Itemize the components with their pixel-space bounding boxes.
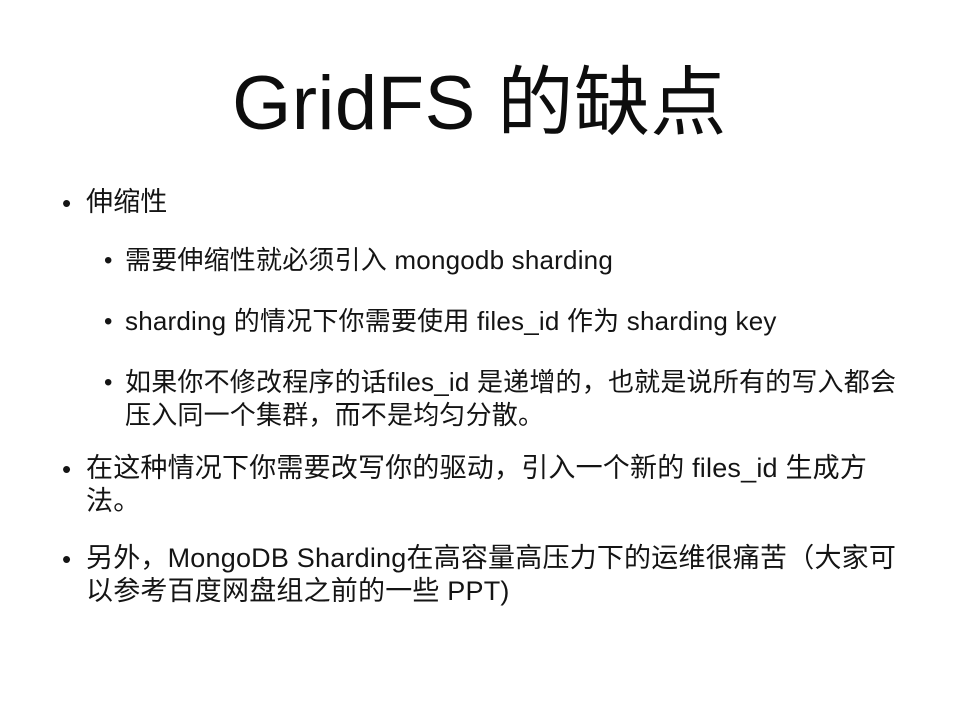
bullet-text: 另外，MongoDB Sharding在高容量高压力下的运维很痛苦（大家可以参考… xyxy=(86,542,902,608)
bullet-marker-icon: • xyxy=(62,542,86,576)
bullet-item-level1: • 在这种情况下你需要改写你的驱动，引入一个新的 files_id 生成方法。 xyxy=(62,452,902,518)
bullet-text: 在这种情况下你需要改写你的驱动，引入一个新的 files_id 生成方法。 xyxy=(86,452,902,518)
slide-body: • 伸缩性 • 需要伸缩性就必须引入 mongodb sharding • sh… xyxy=(62,186,902,632)
bullet-marker-icon: • xyxy=(104,244,125,277)
bullet-item-level2: • sharding 的情况下你需要使用 files_id 作为 shardin… xyxy=(104,305,902,338)
bullet-text: sharding 的情况下你需要使用 files_id 作为 sharding … xyxy=(125,305,902,338)
page-title: GridFS 的缺点 xyxy=(0,62,959,146)
bullet-text: 如果你不修改程序的话files_id 是递增的，也就是说所有的写入都会压入同一个… xyxy=(125,366,902,432)
bullet-item-level1: • 伸缩性 xyxy=(62,186,902,220)
sub-bullet-list: • 需要伸缩性就必须引入 mongodb sharding • sharding… xyxy=(104,244,902,432)
bullet-item-level1: • 另外，MongoDB Sharding在高容量高压力下的运维很痛苦（大家可以… xyxy=(62,542,902,608)
bullet-marker-icon: • xyxy=(104,305,125,338)
slide-canvas: GridFS 的缺点 • 伸缩性 • 需要伸缩性就必须引入 mongodb sh… xyxy=(0,0,959,720)
bullet-text: 需要伸缩性就必须引入 mongodb sharding xyxy=(125,244,902,277)
bullet-text: 伸缩性 xyxy=(86,186,902,219)
bullet-marker-icon: • xyxy=(62,186,86,220)
bullet-item-level2: • 如果你不修改程序的话files_id 是递增的，也就是说所有的写入都会压入同… xyxy=(104,366,902,432)
bullet-marker-icon: • xyxy=(62,452,86,486)
bullet-item-level2: • 需要伸缩性就必须引入 mongodb sharding xyxy=(104,244,902,277)
bullet-marker-icon: • xyxy=(104,366,125,399)
